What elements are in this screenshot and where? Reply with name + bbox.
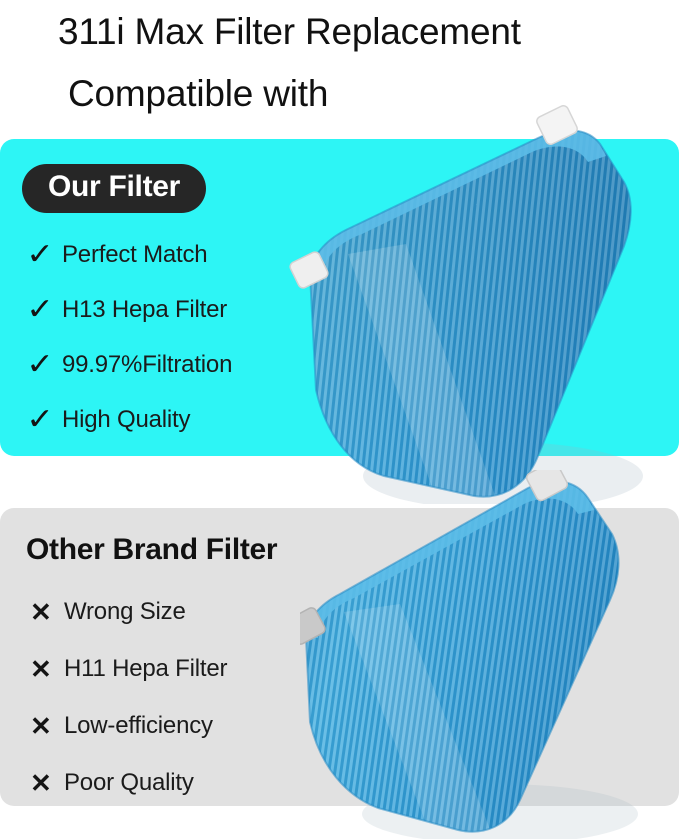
feature-label: Poor Quality xyxy=(64,769,194,797)
check-icon: ✓ xyxy=(26,350,63,380)
our-filter-content: Our Filter ✓ Perfect Match ✓ H13 Hepa Fi… xyxy=(0,139,232,455)
list-item: ✕ Low-efficiency xyxy=(30,706,277,746)
our-filter-feature-list: ✓ Perfect Match ✓ H13 Hepa Filter ✓ 99.9… xyxy=(28,235,232,440)
list-item: ✓ 99.97%Filtration xyxy=(28,345,232,385)
feature-label: Perfect Match xyxy=(62,241,207,269)
feature-label: Wrong Size xyxy=(64,598,186,626)
cross-icon: ✕ xyxy=(30,711,64,741)
our-filter-badge: Our Filter xyxy=(22,164,206,213)
list-item: ✕ H11 Hepa Filter xyxy=(30,649,277,689)
list-item: ✕ Wrong Size xyxy=(30,592,277,632)
cross-icon: ✕ xyxy=(30,654,64,684)
other-brand-content: Other Brand Filter ✕ Wrong Size ✕ H11 He… xyxy=(0,508,277,820)
list-item: ✓ H13 Hepa Filter xyxy=(28,290,232,330)
headline-primary: 311i Max Filter Replacement xyxy=(58,6,679,58)
cross-icon: ✕ xyxy=(30,597,64,627)
list-item: ✓ Perfect Match xyxy=(28,235,232,275)
feature-label: 99.97%Filtration xyxy=(62,351,232,379)
feature-label: H13 Hepa Filter xyxy=(62,296,227,324)
other-brand-title: Other Brand Filter xyxy=(26,532,277,568)
list-item: ✕ Poor Quality xyxy=(30,763,277,803)
check-icon: ✓ xyxy=(26,405,63,435)
feature-label: High Quality xyxy=(62,406,190,434)
page-heading: 311i Max Filter Replacement Compatible w… xyxy=(0,0,679,120)
check-icon: ✓ xyxy=(26,295,63,325)
cross-icon: ✕ xyxy=(30,768,64,798)
feature-label: Low-efficiency xyxy=(64,712,213,740)
feature-label: H11 Hepa Filter xyxy=(64,655,227,683)
headline-secondary: Compatible with xyxy=(68,68,679,120)
list-item: ✓ High Quality xyxy=(28,400,232,440)
check-icon: ✓ xyxy=(26,240,63,270)
other-brand-feature-list: ✕ Wrong Size ✕ H11 Hepa Filter ✕ Low-eff… xyxy=(30,592,277,803)
